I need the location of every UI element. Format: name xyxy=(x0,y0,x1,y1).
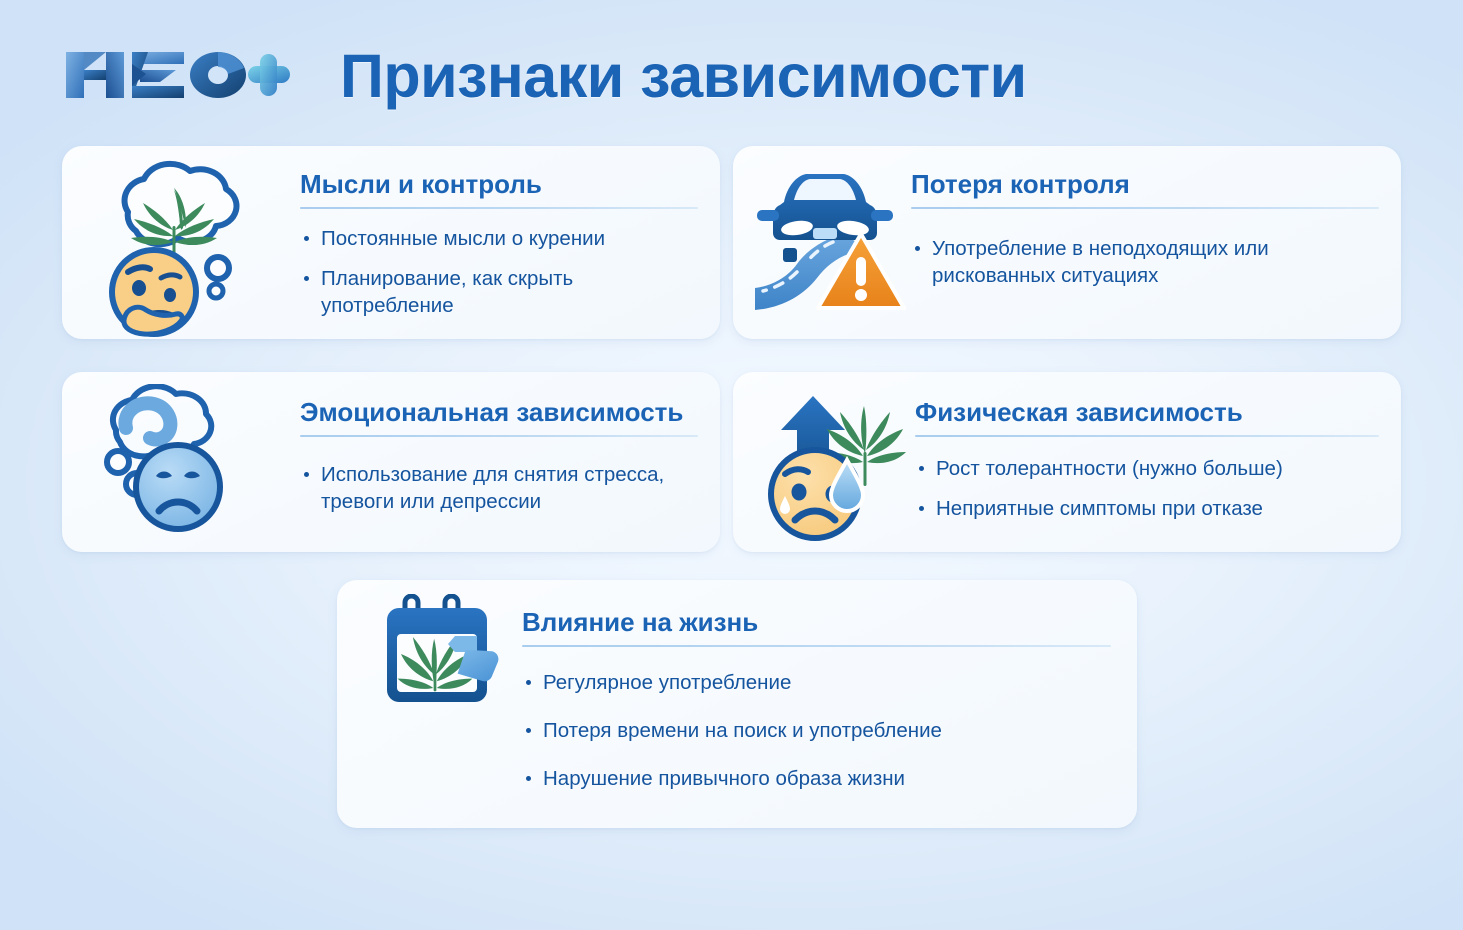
list-item: Постоянные мысли о курении xyxy=(300,225,698,252)
card-control-body: Потеря контроля Употребление в неподходя… xyxy=(911,168,1379,293)
card-life-divider xyxy=(522,645,1111,647)
card-emotional-body: Эмоциональная зависимость Использование … xyxy=(300,396,698,519)
calendar-with-cannabis-leaf-icon xyxy=(379,594,509,719)
card-thoughts-heading: Мысли и контроль xyxy=(300,168,698,200)
page-header: Признаки зависимости xyxy=(0,0,1463,140)
card-emotional-heading: Эмоциональная зависимость xyxy=(300,396,698,428)
list-item: Рост толерантности (нужно больше) xyxy=(915,455,1379,482)
card-life: Влияние на жизнь Регулярное употребление… xyxy=(337,580,1137,828)
card-physical-bullets: Рост толерантности (нужно больше) Неприя… xyxy=(915,455,1379,522)
card-thoughts-divider xyxy=(300,207,698,209)
page-title: Признаки зависимости xyxy=(340,42,1027,110)
neo-plus-logo xyxy=(62,44,292,106)
card-emotional-bullets: Использование для снятия стресса, тревог… xyxy=(300,461,698,515)
card-thoughts: Мысли и контроль Постоянные мысли о куре… xyxy=(62,146,720,339)
list-item: Регулярное употребление xyxy=(522,669,1111,696)
list-item: Неприятные симптомы при отказе xyxy=(915,495,1379,522)
list-item: Употребление в неподходящих или рискован… xyxy=(911,235,1311,289)
card-life-bullets: Регулярное употребление Потеря времени н… xyxy=(522,669,1111,792)
card-control: Потеря контроля Употребление в неподходя… xyxy=(733,146,1401,339)
card-emotional-divider xyxy=(300,435,698,437)
list-item: Нарушение привычного образа жизни xyxy=(522,765,1111,792)
blue-sad-face-with-thought-cloud-icon xyxy=(86,384,246,549)
list-item: Потеря времени на поиск и употребление xyxy=(522,717,1111,744)
list-item: Планирование, как скрыть употребление xyxy=(300,265,698,319)
car-on-winding-road-with-warning-triangle-icon xyxy=(749,162,909,327)
card-emotional: Эмоциональная зависимость Использование … xyxy=(62,372,720,552)
card-thoughts-body: Мысли и контроль Постоянные мысли о куре… xyxy=(300,168,698,319)
list-item: Использование для снятия стресса, тревог… xyxy=(300,461,690,515)
card-life-body: Влияние на жизнь Регулярное употребление… xyxy=(522,606,1111,813)
card-physical-body: Физическая зависимость Рост толерантност… xyxy=(915,396,1379,522)
card-control-divider xyxy=(911,207,1379,209)
card-thoughts-bullets: Постоянные мысли о курении Планирование,… xyxy=(300,225,698,319)
card-control-bullets: Употребление в неподходящих или рискован… xyxy=(911,235,1379,289)
card-control-heading: Потеря контроля xyxy=(911,168,1379,200)
thinking-face-with-cannabis-thought-bubble-icon xyxy=(82,160,252,339)
card-physical-divider xyxy=(915,435,1379,437)
card-physical: Физическая зависимость Рост толерантност… xyxy=(733,372,1401,552)
card-physical-heading: Физическая зависимость xyxy=(915,396,1379,428)
sweating-sad-face-with-up-arrow-and-cannabis-leaf-icon xyxy=(753,382,918,552)
card-life-heading: Влияние на жизнь xyxy=(522,606,1111,638)
